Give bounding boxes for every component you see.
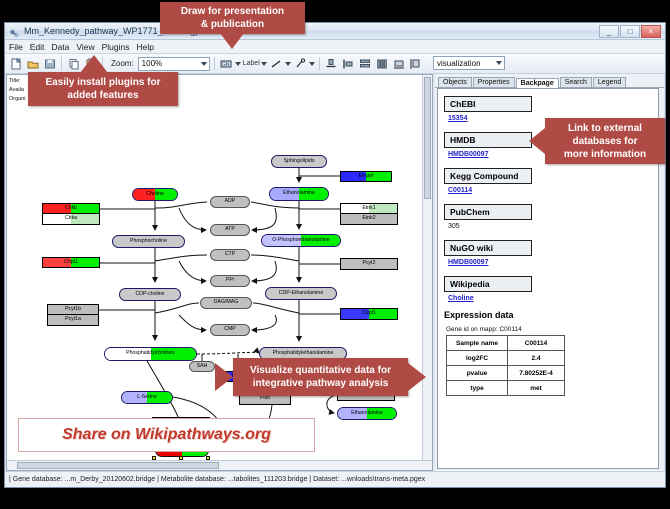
node-label: DAG/MAG <box>214 300 239 305</box>
node-ppi[interactable]: PPi <box>210 275 250 287</box>
screenshot-root: Mm_Kennedy_pathway_WP1771_45176.gpml _ □… <box>0 0 670 509</box>
node-dag-mag[interactable]: DAG/MAG <box>200 297 252 309</box>
callout-draw-line2: & publication <box>181 18 284 31</box>
cell-value: 2.4 <box>508 351 565 366</box>
datanode-icon[interactable]: GN <box>219 56 234 71</box>
menu-view[interactable]: View <box>76 42 94 52</box>
callout-plugins-arrow-icon <box>80 55 108 73</box>
callout-visualize-arrow-left-icon <box>215 363 233 391</box>
node-label: Phosphatidylethanolamine <box>273 351 334 356</box>
node-atp[interactable]: ATP <box>210 224 250 236</box>
node-sah[interactable]: SAH <box>189 361 215 372</box>
node-ethanolamine-bottom[interactable]: Ethanolamine <box>337 407 397 420</box>
svg-text:GN: GN <box>222 62 230 68</box>
node-o-phosphoethanolamine[interactable]: O-Phosphoethanolamine <box>261 234 341 247</box>
node-etnppl[interactable]: Etnppl <box>340 171 392 182</box>
cell-value: C00114 <box>508 336 565 351</box>
table-row: log2FC 2.4 <box>447 351 565 366</box>
kegg-link[interactable]: C00114 <box>448 187 652 194</box>
pubchem-value: 305 <box>448 223 652 230</box>
node-label: O-Phosphoethanolamine <box>272 238 329 243</box>
callout-link-arrow-icon <box>529 128 545 154</box>
node-label: Etnk2 <box>362 216 375 221</box>
menu-file[interactable]: File <box>9 42 23 52</box>
node-label: Phosphocholine <box>130 239 167 244</box>
align-top-icon[interactable] <box>324 56 339 71</box>
node-ethanolamine-top[interactable]: Ethanolamine <box>269 187 329 201</box>
nugo-header: NuGO wiki <box>444 240 532 256</box>
toolbar-separator <box>319 57 320 70</box>
node-label: Choline <box>146 192 164 197</box>
cell-value: 7.80252E-4 <box>508 366 565 381</box>
node-etnk2[interactable]: Etnk2 <box>340 214 398 225</box>
callout-link-line3: more information <box>564 148 646 161</box>
node-pcyt2[interactable]: Pcyt2 <box>340 258 398 270</box>
wikipedia-link[interactable]: Choline <box>448 295 652 302</box>
save-icon[interactable] <box>42 56 57 71</box>
node-label: Ethanolamine <box>351 411 383 416</box>
callout-link-line2: databases for <box>564 135 646 148</box>
menu-data[interactable]: Data <box>51 42 69 52</box>
node-etnk1[interactable]: Etnk1 <box>340 203 398 214</box>
visualization-value: visualization <box>437 59 481 68</box>
open-folder-icon[interactable] <box>25 56 40 71</box>
node-label: CDP-Ethanolamine <box>279 291 323 296</box>
size-height-icon[interactable] <box>409 56 424 71</box>
node-label: Etnk1 <box>362 206 375 211</box>
callout-plugins-line2: added features <box>45 89 160 102</box>
tab-objects[interactable]: Objects <box>438 77 472 87</box>
title-bar: Mm_Kennedy_pathway_WP1771_45176.gpml _ □… <box>5 23 665 40</box>
node-label: CMP <box>224 327 236 332</box>
node-label: SAH <box>197 364 208 369</box>
chevron-down-icon <box>309 62 315 66</box>
visualization-combo[interactable]: visualization <box>433 56 505 70</box>
label-tool[interactable]: Label <box>243 60 267 67</box>
table-row: pvalue 7.80252E-4 <box>447 366 565 381</box>
node-label: Chka <box>65 216 77 221</box>
callout-draw-line1: Draw for presentation <box>181 5 284 18</box>
callout-share: Share on Wikipathways.org <box>18 418 315 452</box>
table-row: type met <box>447 381 565 396</box>
chebi-header: ChEBI <box>444 96 532 112</box>
node-pcyt1a[interactable]: Pcyt1a <box>47 315 99 326</box>
callout-visualize-arrow-right-icon <box>408 363 426 391</box>
size-width-icon[interactable] <box>392 56 407 71</box>
callout-draw-arrow-icon <box>220 33 244 49</box>
node-cdp-ethanolamine[interactable]: CDP-Ethanolamine <box>265 287 337 300</box>
node-chpt1[interactable]: Chpt1 <box>42 257 100 268</box>
node-choline-top[interactable]: Choline <box>132 188 178 201</box>
node-label: Pcyt1b <box>65 307 81 312</box>
app-icon <box>9 26 20 37</box>
tab-properties[interactable]: Properties <box>473 77 515 87</box>
line-icon[interactable] <box>269 56 284 71</box>
chevron-down-icon <box>261 62 267 66</box>
new-file-icon[interactable] <box>8 56 23 71</box>
node-label: PPi <box>226 278 234 283</box>
callout-visualize: Visualize quantitative data for integrat… <box>233 358 408 396</box>
callout-share-text: Share on Wikipathways.org <box>62 426 271 444</box>
zoom-label: Zoom: <box>111 59 134 68</box>
node-label: L-Serine <box>137 395 157 400</box>
line-tool[interactable] <box>269 56 291 71</box>
node-cmp[interactable]: CMP <box>210 324 250 336</box>
kegg-header: Kegg Compound <box>444 168 532 184</box>
callout-visualize-line1: Visualize quantitative data for <box>250 364 391 377</box>
expression-data-title: Expression data <box>444 310 652 320</box>
node-label: CDP-choline <box>135 292 164 297</box>
status-bar: | Gene database: ...m_Derby_20120602.bri… <box>5 471 665 487</box>
pubchem-header: PubChem <box>444 204 532 220</box>
node-adp[interactable]: ADP <box>210 196 250 208</box>
node-chka[interactable]: Chka <box>42 214 100 225</box>
tab-backpage[interactable]: Backpage <box>516 78 559 88</box>
maximize-button[interactable]: □ <box>620 25 640 38</box>
chevron-down-icon <box>496 61 502 65</box>
pathway-canvas[interactable]: Title: Availa Organi <box>6 74 433 471</box>
node-label: ATP <box>225 227 235 232</box>
node-phosphocholine[interactable]: Phosphocholine <box>112 235 185 248</box>
node-pcyt1b[interactable]: Pcyt1b <box>47 304 99 315</box>
node-label: ADP <box>225 199 236 204</box>
cell-key: log2FC <box>447 351 508 366</box>
zoom-value: 100% <box>142 59 162 68</box>
toolbar-separator <box>61 57 62 70</box>
expression-table: Sample name C00114 log2FC 2.4 pvalue 7.8… <box>446 335 565 396</box>
canvas-horizontal-scrollbar[interactable] <box>7 460 432 470</box>
node-label: Pcyt2 <box>363 261 376 266</box>
node-ctp[interactable]: CTP <box>210 249 250 261</box>
canvas-vertical-scrollbar[interactable] <box>422 75 432 470</box>
status-text: | Gene database: ...m_Derby_20120602.bri… <box>9 476 425 483</box>
chevron-down-icon <box>235 62 241 66</box>
node-cdp-choline[interactable]: CDP-choline <box>119 288 181 301</box>
scroll-thumb[interactable] <box>424 77 431 199</box>
nugo-link[interactable]: HMDB00097 <box>448 259 652 266</box>
cell-value: met <box>508 381 565 396</box>
zoom-combo[interactable]: 100% <box>138 57 210 71</box>
node-chkb[interactable]: Chkb <box>42 203 100 214</box>
wikipedia-header: Wikipedia <box>444 276 532 292</box>
node-label: Etnppl <box>359 174 374 179</box>
menu-bar: File Edit Data View Plugins Help <box>5 40 665 54</box>
tab-search[interactable]: Search <box>560 77 592 87</box>
datanode-tool[interactable]: GN <box>219 56 241 71</box>
node-label: Cept1 <box>362 311 376 316</box>
align-stack-icon[interactable] <box>358 56 373 71</box>
node-l-serine-left[interactable]: L-Serine <box>121 391 173 404</box>
anchor-tool[interactable] <box>293 56 315 71</box>
copy-icon[interactable] <box>66 56 81 71</box>
callout-plugins-line1: Easily install plugins for <box>45 76 160 89</box>
label-tool-label: Label <box>243 60 260 67</box>
cell-key: pvalue <box>447 366 508 381</box>
distribute-icon[interactable] <box>375 56 390 71</box>
node-phosphatidylcholines[interactable]: Phosphatidylcholines <box>104 347 197 361</box>
node-label: Pisd <box>260 396 270 401</box>
table-row: Sample name C00114 <box>447 336 565 351</box>
callout-draw: Draw for presentation & publication <box>160 2 305 34</box>
close-button[interactable]: × <box>641 25 661 38</box>
menu-plugins[interactable]: Plugins <box>102 42 130 52</box>
cell-key: Sample name <box>447 336 508 351</box>
anchor-icon[interactable] <box>293 56 308 71</box>
node-label: Sphingolipids <box>284 159 315 164</box>
node-sphingolipids[interactable]: Sphingolipids <box>271 155 327 168</box>
side-panel-tabs: Objects Properties Backpage Search Legen… <box>435 74 664 88</box>
chevron-down-icon <box>285 62 291 66</box>
gene-id-label: Gene id on mapp: C00114 <box>446 326 652 333</box>
align-left-icon[interactable] <box>341 56 356 71</box>
hmdb-header: HMDB <box>444 132 532 148</box>
scroll-thumb[interactable] <box>17 462 219 469</box>
node-label: Chpt1 <box>64 260 78 265</box>
minimize-button[interactable]: _ <box>599 25 619 38</box>
cell-key: type <box>447 381 508 396</box>
tab-legend[interactable]: Legend <box>593 77 626 87</box>
menu-edit[interactable]: Edit <box>30 42 45 52</box>
node-label: Phosphatidylcholines <box>126 351 175 356</box>
node-label: Pcyt1a <box>65 317 81 322</box>
node-label: CTP <box>225 252 235 257</box>
node-label: Ethanolamine <box>283 191 315 196</box>
chevron-down-icon <box>201 62 207 66</box>
callout-visualize-line2: integrative pathway analysis <box>250 377 391 390</box>
window-buttons: _ □ × <box>599 25 661 38</box>
menu-help[interactable]: Help <box>137 42 154 52</box>
node-cept1[interactable]: Cept1 <box>340 308 398 320</box>
callout-plugins: Easily install plugins for added feature… <box>28 72 178 106</box>
callout-link: Link to external databases for more info… <box>545 118 665 164</box>
callout-link-line1: Link to external <box>564 122 646 135</box>
node-label: Chkb <box>65 206 77 211</box>
toolbar-separator <box>214 57 215 70</box>
